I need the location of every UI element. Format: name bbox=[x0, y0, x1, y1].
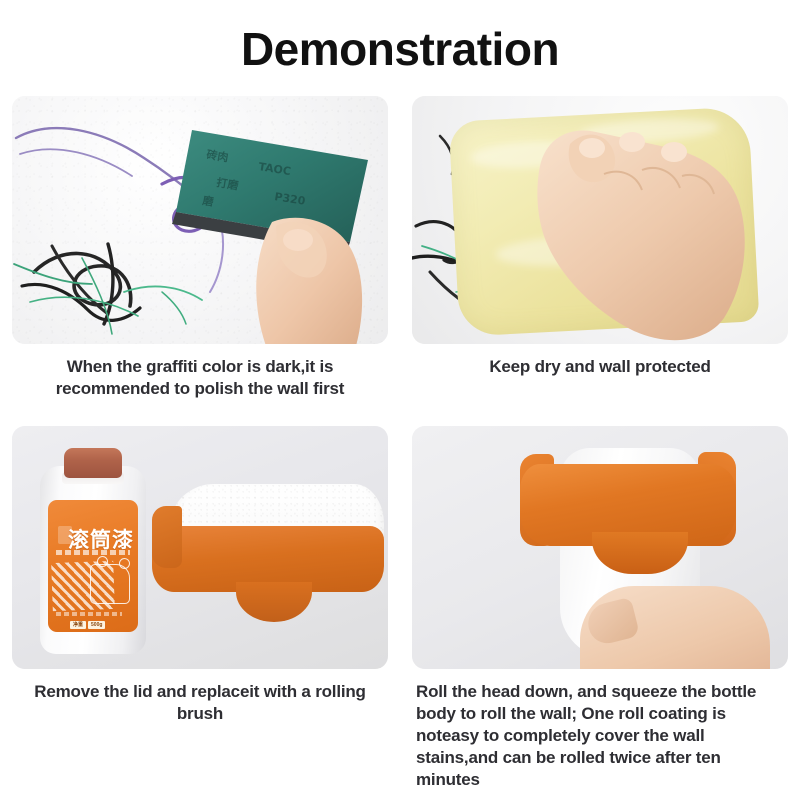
label-mark-icon bbox=[97, 556, 108, 567]
hand-icon bbox=[236, 216, 388, 344]
demo-grid: 砖肉 TAOC 打磨 P320 磨 bbox=[0, 96, 800, 791]
caption-roll-wall: Roll the head down, and squeeze the bott… bbox=[412, 669, 788, 791]
roller-end-cap bbox=[152, 506, 182, 568]
label-subtext-lines bbox=[56, 550, 130, 555]
roller-illustration-icon bbox=[90, 564, 130, 604]
demo-cell-roll-wall: Roll the head down, and squeeze the bott… bbox=[400, 426, 800, 791]
caption-replace-lid: Remove the lid and replaceit with a roll… bbox=[12, 669, 388, 725]
hand-icon bbox=[500, 114, 758, 344]
demo-row-bottom: 滚筒漆 净重 500g bbox=[0, 426, 800, 791]
photo-roll-wall bbox=[412, 426, 788, 669]
demo-cell-polish-wall: 砖肉 TAOC 打磨 P320 磨 bbox=[0, 96, 400, 400]
demo-cell-replace-lid: 滚筒漆 净重 500g bbox=[0, 426, 400, 791]
photo-keep-dry bbox=[412, 96, 788, 344]
paint-bottle: 滚筒漆 净重 500g bbox=[40, 448, 146, 654]
page-title: Demonstration bbox=[0, 0, 800, 86]
label-footer-lines bbox=[56, 612, 122, 616]
demonstration-page: Demonstration bbox=[0, 0, 800, 800]
bottle-label: 滚筒漆 净重 500g bbox=[48, 500, 138, 632]
label-weight-badge: 净重 500g bbox=[70, 621, 105, 629]
photo-replace-lid: 滚筒漆 净重 500g bbox=[12, 426, 388, 669]
label-mark-icon bbox=[119, 558, 130, 569]
caption-polish-wall: When the graffiti color is dark,it is re… bbox=[12, 344, 388, 400]
demo-cell-keep-dry: Keep dry and wall protected bbox=[400, 96, 800, 400]
weight-value: 500g bbox=[88, 621, 105, 629]
photo-polish-wall: 砖肉 TAOC 打磨 P320 磨 bbox=[12, 96, 388, 344]
roller-brush-head bbox=[152, 484, 384, 644]
caption-keep-dry: Keep dry and wall protected bbox=[412, 344, 788, 378]
demo-row-top: 砖肉 TAOC 打磨 P320 磨 bbox=[0, 96, 800, 400]
roller-stem bbox=[236, 582, 312, 622]
bottle-cap bbox=[64, 448, 122, 478]
weight-tag: 净重 bbox=[70, 621, 86, 629]
